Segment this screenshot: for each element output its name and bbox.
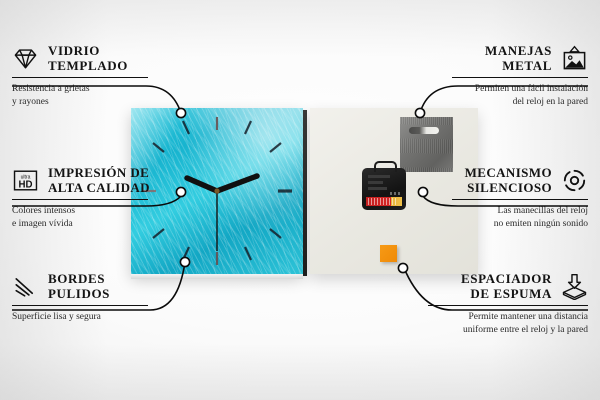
feature-rule <box>452 77 588 78</box>
feature-subtitle-line-2: uniforme entre el reloj y la pared <box>428 324 588 337</box>
feature-mecanismo-silencioso: MECANISMO SILENCIOSO Las manecillas del … <box>452 166 588 230</box>
feature-title-line-2: PULIDOS <box>48 287 110 302</box>
ultra-hd-main-label: HD <box>19 179 33 190</box>
feature-espaciador-espuma: ESPACIADOR DE ESPUMA Permite mantener un… <box>428 272 588 336</box>
feature-subtitle-line-1: Permiten una fácil instalación <box>452 83 588 96</box>
feature-title-line-1: MECANISMO <box>465 166 552 181</box>
feature-subtitle-line-1: Permite mantener una distancia <box>428 311 588 324</box>
feature-title-line-1: ESPACIADOR <box>461 272 552 287</box>
feature-bordes-pulidos: BORDES PULIDOS Superficie lisa y segura <box>12 272 148 324</box>
feature-rule <box>12 305 148 306</box>
callout-marker-espaciador <box>398 263 407 272</box>
feature-vidrio-templado: VIDRIO TEMPLADO Resistencia a grietas y … <box>12 44 148 108</box>
foam-spacer-arrow-icon <box>561 273 588 300</box>
polished-edges-icon <box>12 273 39 300</box>
feature-subtitle-line-2: y rayones <box>12 96 148 109</box>
feature-rule <box>428 305 588 306</box>
feature-subtitle-line-1: Colores intensos <box>12 205 148 218</box>
feature-title-line-1: MANEJAS <box>485 44 552 59</box>
diamond-icon <box>12 45 39 72</box>
callout-marker-bordes <box>180 257 189 266</box>
feature-title-line-2: METAL <box>485 59 552 74</box>
feature-manejas-metal: MANEJAS METAL Permiten una fácil instala… <box>452 44 588 108</box>
product-infographic: VIDRIO TEMPLADO Resistencia a grietas y … <box>0 0 600 400</box>
feature-title-line-2: SILENCIOSO <box>465 181 552 196</box>
feature-title-line-2: ALTA CALIDAD <box>48 181 150 196</box>
wall-hanger-frame-icon <box>561 45 588 72</box>
callout-marker-impresion <box>176 187 185 196</box>
feature-title-line-1: VIDRIO <box>48 44 128 59</box>
callout-marker-mecanismo <box>418 187 427 196</box>
feature-subtitle-line-2: del reloj en la pared <box>452 96 588 109</box>
feature-impresion-alta-calidad: ultra HD IMPRESIÓN DE ALTA CALIDAD Color… <box>12 166 148 230</box>
feature-subtitle-line-1: Las manecillas del reloj <box>452 205 588 218</box>
feature-subtitle-line-1: Superficie lisa y segura <box>12 311 148 324</box>
feature-rule <box>12 77 148 78</box>
ultra-hd-icon: ultra HD <box>12 167 39 194</box>
feature-subtitle-line-1: Resistencia a grietas <box>12 83 148 96</box>
feature-rule <box>12 199 148 200</box>
feature-title-line-2: TEMPLADO <box>48 59 128 74</box>
feature-title-line-1: BORDES <box>48 272 110 287</box>
callout-marker-manejas <box>415 108 424 117</box>
feature-title-line-1: IMPRESIÓN DE <box>48 166 150 181</box>
feature-subtitle-line-2: e imagen vívida <box>12 218 148 231</box>
feature-subtitle-line-2: no emiten ningún sonido <box>452 218 588 231</box>
gear-icon <box>561 167 588 194</box>
callout-marker-vidrio-templado <box>176 108 185 117</box>
feature-title-line-2: DE ESPUMA <box>461 287 552 302</box>
feature-rule <box>452 199 588 200</box>
